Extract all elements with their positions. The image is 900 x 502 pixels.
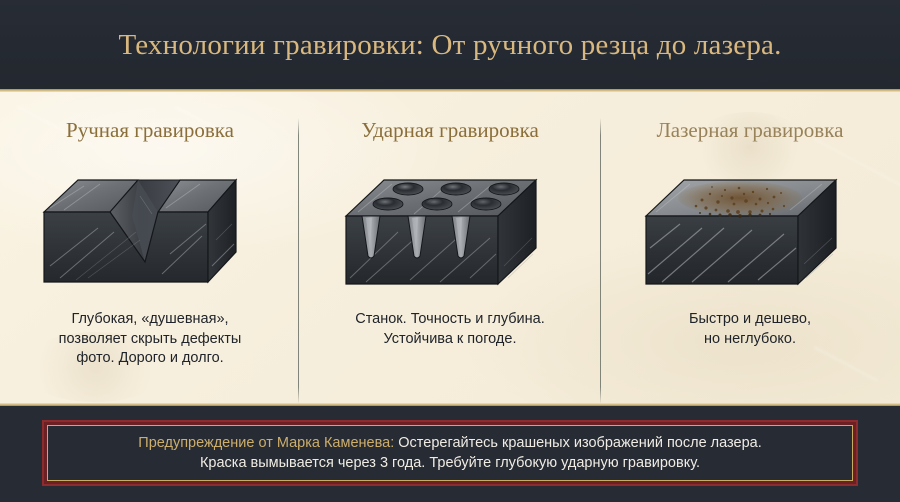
column-laser-engraving: Лазерная гравировка (608, 92, 892, 405)
column-impact-engraving: Ударная гравировка (308, 92, 592, 405)
caption-line: позволяет скрыть дефекты (12, 330, 288, 350)
warning-line-1-rest: Остерегайтесь крашеных изображений после… (394, 435, 761, 451)
column-title-impact: Ударная гравировка (308, 118, 592, 143)
page-title: Технологии гравировки: От ручного резца … (118, 29, 781, 62)
infographic-poster: Технологии гравировки: От ручного резца … (0, 0, 900, 502)
caption-line: но неглубоко. (612, 330, 888, 350)
caption-line: Станок. Точность и глубина. (312, 310, 588, 330)
v-groove-stone-svg (40, 170, 260, 298)
column-manual-engraving: Ручная гравировка (8, 92, 292, 405)
content-panel: Ручная гравировка (0, 92, 900, 405)
column-title-manual: Ручная гравировка (8, 118, 292, 143)
stone-block-v-groove-illustration (8, 170, 292, 300)
impact-pits-stone-svg (340, 170, 560, 298)
stone-block-laser-scorch-illustration (608, 170, 892, 300)
caption-impact: Станок. Точность и глубина. Устойчива к … (312, 310, 588, 349)
columns-container: Ручная гравировка (0, 92, 900, 405)
caption-laser: Быстро и дешево, но неглубоко. (612, 310, 888, 349)
caption-line: Устойчива к погоде. (312, 330, 588, 350)
stone-block-impact-pits-illustration (308, 170, 592, 300)
warning-line-2: Краска вымывается через 3 года. Требуйте… (200, 453, 700, 473)
caption-line: Быстро и дешево, (612, 310, 888, 330)
warning-prefix: Предупреждение от Марка Каменева: (138, 435, 394, 451)
header-bar: Технологии гравировки: От ручного резца … (0, 0, 900, 90)
laser-scorch-stone-svg (640, 170, 860, 298)
column-divider (600, 118, 601, 404)
caption-manual: Глубокая, «душевная», позволяет скрыть д… (12, 310, 288, 369)
footer-bar: Предупреждение от Марка Каменева: Остере… (0, 406, 900, 502)
warning-box-inner: Предупреждение от Марка Каменева: Остере… (47, 425, 853, 481)
caption-line: Глубокая, «душевная», (12, 310, 288, 330)
column-divider (298, 118, 299, 404)
warning-line-1: Предупреждение от Марка Каменева: Остере… (138, 433, 761, 453)
column-title-laser: Лазерная гравировка (608, 118, 892, 143)
caption-line: фото. Дорого и долго. (12, 349, 288, 369)
warning-box: Предупреждение от Марка Каменева: Остере… (42, 420, 858, 486)
